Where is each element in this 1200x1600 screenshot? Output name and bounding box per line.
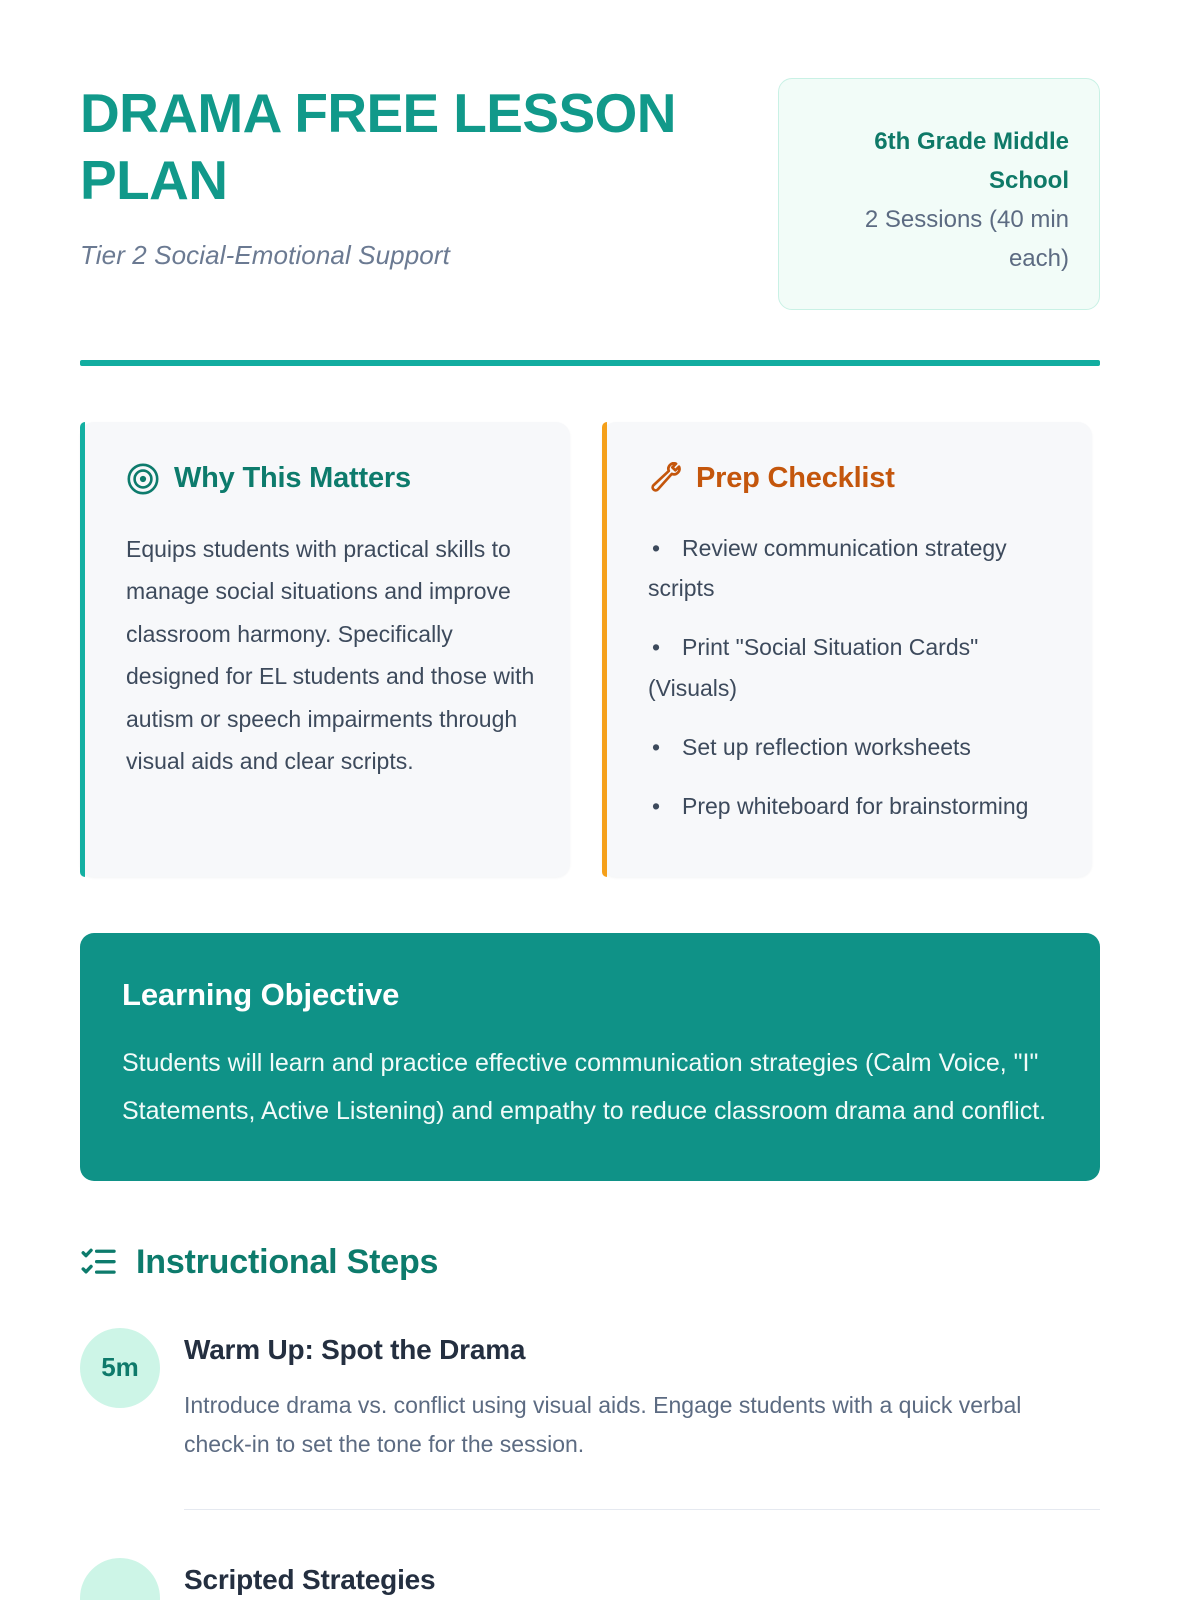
step-description: Introduce drama vs. conflict using visua… [184,1386,1089,1465]
info-cards-row: Why This Matters Equips students with pr… [80,422,1100,877]
prep-checklist-title: Prep Checklist [696,462,895,495]
learning-objective-panel: Learning Objective Students will learn a… [80,933,1100,1181]
why-this-matters-body: Equips students with practical skills to… [126,528,536,783]
step-duration-badge [80,1558,160,1600]
step-content: Scripted Strategies [184,1554,1100,1600]
checklist-icon [80,1243,118,1281]
prep-checklist-header: Prep Checklist [648,462,1058,496]
target-icon [126,462,160,496]
list-item: Prep whiteboard for brainstorming [648,786,1058,827]
step-title: Warm Up: Spot the Drama [184,1334,1100,1366]
step-item: Scripted Strategies [80,1554,1100,1600]
step-title: Scripted Strategies [184,1564,1100,1596]
learning-objective-text: Students will learn and practice effecti… [122,1039,1052,1135]
lesson-meta-box: 6th Grade Middle School 2 Sessions (40 m… [778,78,1100,310]
lesson-plan-page: DRAMA FREE LESSON PLAN Tier 2 Social-Emo… [0,0,1200,1600]
instructional-steps-title: Instructional Steps [136,1243,438,1282]
page-title: DRAMA FREE LESSON PLAN [80,80,700,214]
why-this-matters-title: Why This Matters [174,462,411,495]
document-header: DRAMA FREE LESSON PLAN Tier 2 Social-Emo… [80,78,1100,310]
page-subtitle: Tier 2 Social-Emotional Support [80,240,720,271]
step-duration-badge: 5m [80,1328,160,1408]
why-this-matters-header: Why This Matters [126,462,536,496]
instructional-steps-header: Instructional Steps [80,1243,1100,1282]
wrench-icon [648,462,682,496]
step-item: 5m Warm Up: Spot the Drama Introduce dra… [80,1324,1100,1511]
why-this-matters-card: Why This Matters Equips students with pr… [80,422,570,877]
instructional-steps-section: Instructional Steps 5m Warm Up: Spot the… [80,1243,1100,1600]
prep-checklist-items: Review communication strategy scripts Pr… [648,528,1058,828]
meta-session-count: 2 Sessions (40 min each) [805,201,1069,279]
prep-checklist-card: Prep Checklist Review communication stra… [602,422,1092,877]
step-divider [184,1509,1100,1511]
header-divider [80,360,1100,366]
step-content: Warm Up: Spot the Drama Introduce drama … [184,1324,1100,1511]
list-item: Review communication strategy scripts [648,528,1058,610]
header-title-block: DRAMA FREE LESSON PLAN Tier 2 Social-Emo… [80,78,720,271]
list-item: Print "Social Situation Cards" (Visuals) [648,627,1058,709]
learning-objective-title: Learning Objective [122,977,1052,1013]
list-item: Set up reflection worksheets [648,727,1058,768]
meta-grade-level: 6th Grade Middle School [805,123,1069,201]
